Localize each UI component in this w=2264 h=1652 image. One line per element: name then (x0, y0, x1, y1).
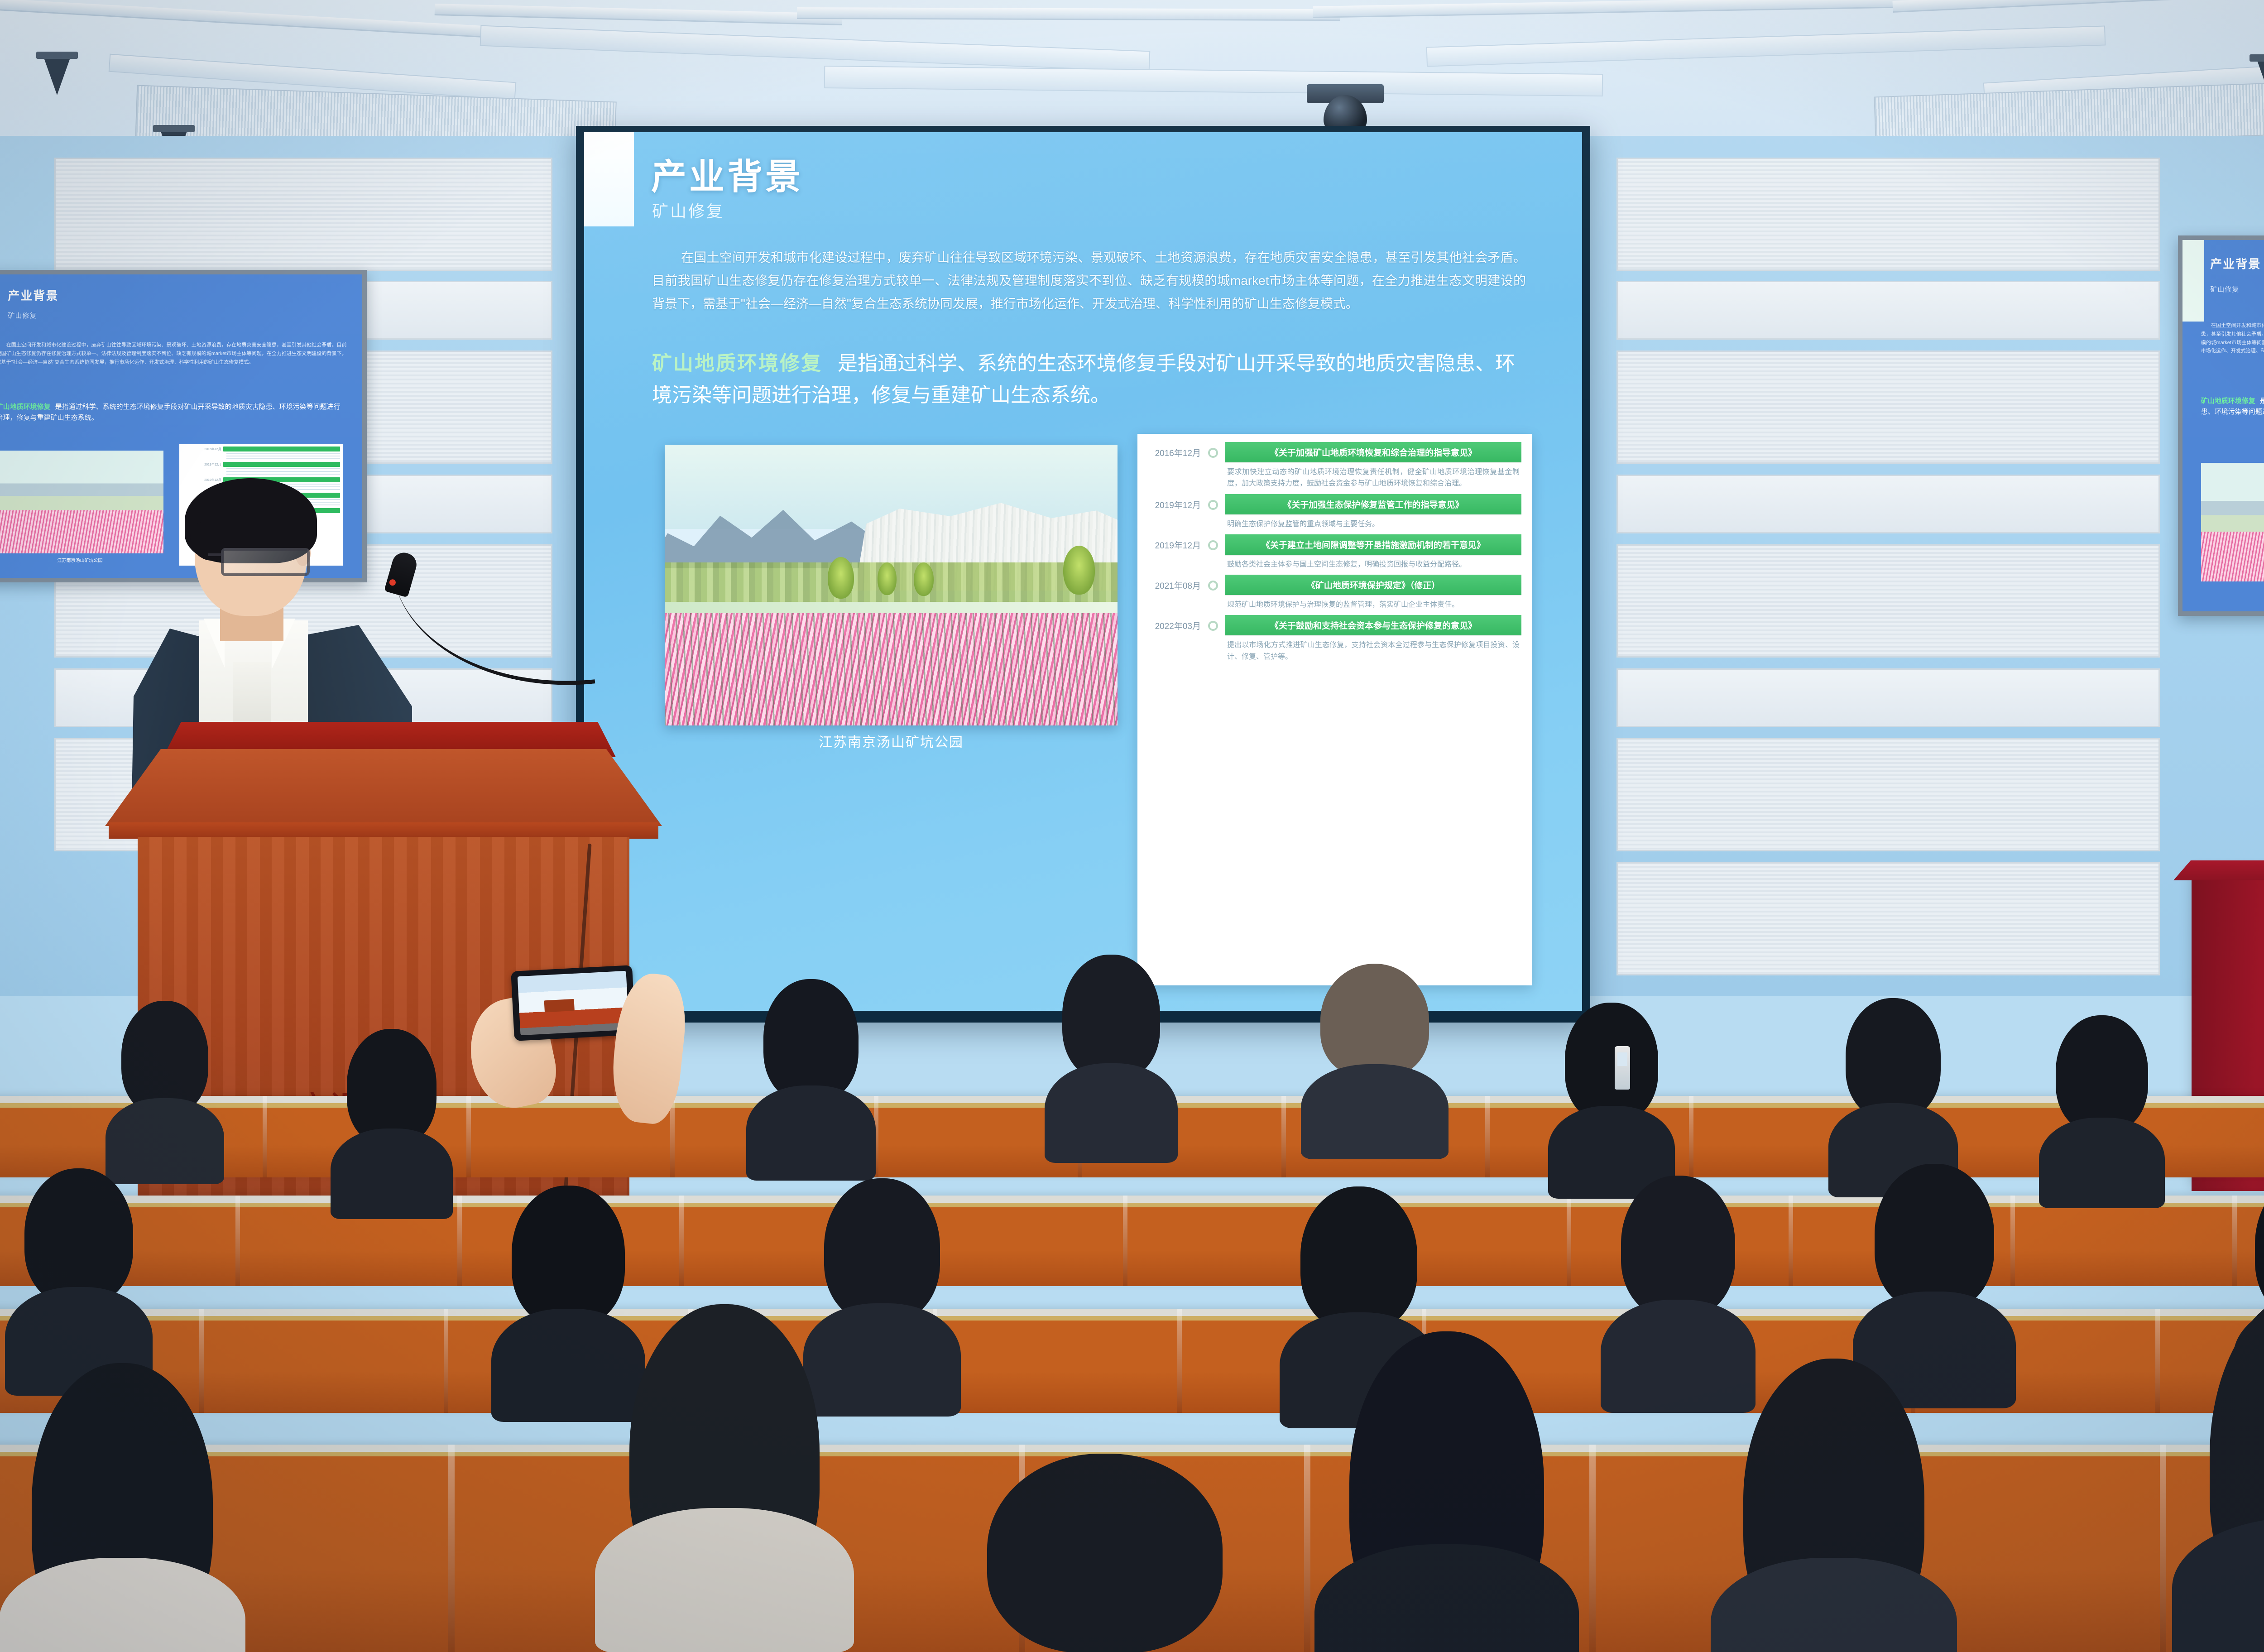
audience-member (347, 1029, 436, 1145)
podium-cap (105, 749, 662, 826)
policy-title: 《关于加强生态保护修复监管工作的指导意见》 (1225, 494, 1521, 514)
slide-subtitle: 矿山修复 (652, 198, 724, 222)
side-right-slide-subtitle: 矿山修复 (2210, 284, 2239, 294)
audience-member (1320, 964, 1429, 1077)
policy-row: 2019年12月 《关于加强生态保护修复监管工作的指导意见》 明确生态保护修复监… (1146, 494, 1521, 532)
glasses-icon (221, 548, 310, 576)
slide-accent-block (584, 132, 634, 226)
audience-member (987, 1454, 1223, 1652)
side-left-definition-keyword: 矿山地质环境修复 (0, 403, 51, 411)
policy-title: 《关于加强矿山地质环境恢复和综合治理的指导意见》 (1225, 442, 1521, 462)
policy-date: 2019年12月 (1146, 534, 1201, 551)
audience-member (1300, 1186, 1417, 1330)
audience-member (24, 1168, 133, 1304)
side-monitor-right: 产业背景 矿山修复 在国土空间开发和城市化建设过程中，废弃矿山往往导致区域环境污… (2178, 235, 2264, 616)
policy-title: 《关于鼓励和支持社会资本参与生态保护修复的意见》 (1225, 615, 1521, 635)
timeline-dot-icon (1201, 494, 1225, 510)
policy-row: 2016年12月 《关于加强矿山地质环境恢复和综合治理的指导意见》 要求加快建立… (1146, 442, 1521, 491)
policy-bar (223, 447, 340, 451)
audience-member (512, 1186, 625, 1326)
policy-title: 《矿山地质环境保护规定》（修正） (1225, 575, 1521, 595)
policy-description: 要求加快建立动态的矿山地质环境治理恢复责任机制，健全矿山地质环境治理恢复基金制度… (1225, 462, 1521, 491)
policy-timeline-panel: 2016年12月 《关于加强矿山地质环境恢复和综合治理的指导意见》 要求加快建立… (1137, 434, 1532, 985)
policy-date: 2022年03月 (1146, 615, 1201, 632)
policy-date: 2019年12月 (182, 478, 223, 482)
audience-member (629, 1304, 820, 1612)
audience-member (32, 1363, 213, 1652)
main-presentation-screen: 产业背景 矿山修复 在国土空间开发和城市化建设过程中，废弃矿山往往导致区域环境污… (576, 126, 1590, 1023)
side-right-slide-title: 产业背景 (2210, 255, 2261, 272)
side-right-photo-caption: 江苏南京汤山矿坑公园 (2201, 587, 2264, 594)
side-right-slide-paragraph: 在国土空间开发和城市化建设过程中，废弃矿山往往导致区域环境污染、景观破坏、土地资… (2201, 322, 2264, 355)
audience-phone-recording (471, 960, 684, 1150)
policy-description: 鼓励各类社会主体参与国土空间生态修复，明确投资回报与收益分配路径。 (1225, 555, 1521, 572)
timeline-dot-icon (1201, 534, 1225, 550)
water-bottle (1615, 1046, 1630, 1090)
policy-date: 2019年12月 (182, 462, 223, 467)
slide-photo-caption: 江苏南京汤山矿坑公园 (665, 731, 1118, 751)
smartphone-screen[interactable] (518, 971, 629, 1035)
conference-hall-scene: 产业背景 矿山修复 在国土空间开发和城市化建设过程中，废弃矿山往往导致区域环境污… (0, 0, 2264, 1652)
side-left-slide-paragraph: 在国土空间开发和城市化建设过程中，废弃矿山往往导致区域环境污染、景观破坏、土地资… (0, 341, 347, 366)
policy-row: 2019年12月 《关于建立土地间隙调整等开垦措施激励机制的若干意见》 鼓励各类… (1146, 534, 1521, 572)
timeline-dot-icon (1201, 442, 1225, 458)
slide-photo (665, 445, 1118, 725)
audience-member (1565, 1003, 1658, 1121)
audience-member (824, 1178, 940, 1321)
timeline-dot-icon (1201, 575, 1225, 591)
policy-title: 《关于建立土地间隙调整等开垦措施激励机制的若干意见》 (1225, 534, 1521, 555)
policy-description: 提出以市场化方式推进矿山生态修复，支持社会资本全过程参与生态保护修复项目投资、设… (1225, 635, 1521, 664)
slide-body-paragraph: 在国土空间开发和城市化建设过程中，废弃矿山往往导致区域环境污染、景观破坏、土地资… (652, 246, 1526, 316)
side-right-definition-keyword: 矿山地质环境修复 (2201, 397, 2255, 405)
audience-member (1846, 998, 1941, 1119)
audience-member (1875, 1164, 1994, 1311)
policy-row: 2021年08月 《矿山地质环境保护规定》（修正） 规范矿山地质环境保护与治理恢… (1146, 575, 1521, 612)
side-right-slide-photo (2201, 463, 2264, 581)
side-left-definition-text: 是指通过科学、系统的生态环境修复手段对矿山开采导致的地质灾害隐患、环境污染等问题… (0, 403, 341, 422)
policy-date: 2019年12月 (1146, 494, 1201, 511)
cone-speaker-icon (2255, 54, 2264, 98)
audience-member (2210, 1291, 2264, 1635)
policy-date: 2016年12月 (1146, 442, 1201, 459)
policy-bar (223, 462, 340, 467)
side-left-slide-definition: 矿山地质环境修复是指通过科学、系统的生态环境修复手段对矿山开采导致的地质灾害隐患… (0, 402, 347, 423)
audience-member (2056, 1015, 2148, 1132)
policy-description: 明确生态保护修复监管的重点领域与主要任务。 (1225, 514, 1521, 532)
definition-keyword: 矿山地质环境修复 (652, 352, 822, 375)
audience-member (121, 1001, 208, 1114)
podium-lip (109, 822, 658, 839)
policy-description: 规范矿山地质环境保护与治理恢复的监督管理，落实矿山企业主体责任。 (1225, 595, 1521, 612)
policy-date: 2016年12月 (182, 447, 223, 451)
cone-speaker-icon (42, 52, 72, 95)
side-left-slide-title: 产业背景 (8, 287, 58, 303)
audience-member (1621, 1176, 1735, 1317)
slide-canvas: 产业背景 矿山修复 在国土空间开发和城市化建设过程中，废弃矿山往往导致区域环境污… (584, 132, 1582, 1011)
slide-title: 产业背景 (651, 149, 803, 199)
slide-accent-block (2182, 240, 2204, 322)
audience-member (763, 979, 859, 1101)
side-right-slide-definition: 矿山地质环境修复是指通过科学、系统的生态环境修复手段对矿山开采导致的地质灾害隐患… (2201, 396, 2264, 418)
slide-definition: 矿山地质环境修复是指通过科学、系统的生态环境修复手段对矿山开采导致的地质灾害隐患… (652, 348, 1526, 412)
audience-member (1062, 955, 1160, 1080)
audience-member (1349, 1331, 1544, 1648)
policy-date: 2021年08月 (1146, 575, 1201, 591)
timeline-dot-icon (1201, 615, 1225, 631)
audience-member (1743, 1359, 1924, 1652)
policy-row: 2022年03月 《关于鼓励和支持社会资本参与生态保护修复的意见》 提出以市场化… (1146, 615, 1521, 664)
side-left-slide-subtitle: 矿山修复 (8, 311, 37, 320)
